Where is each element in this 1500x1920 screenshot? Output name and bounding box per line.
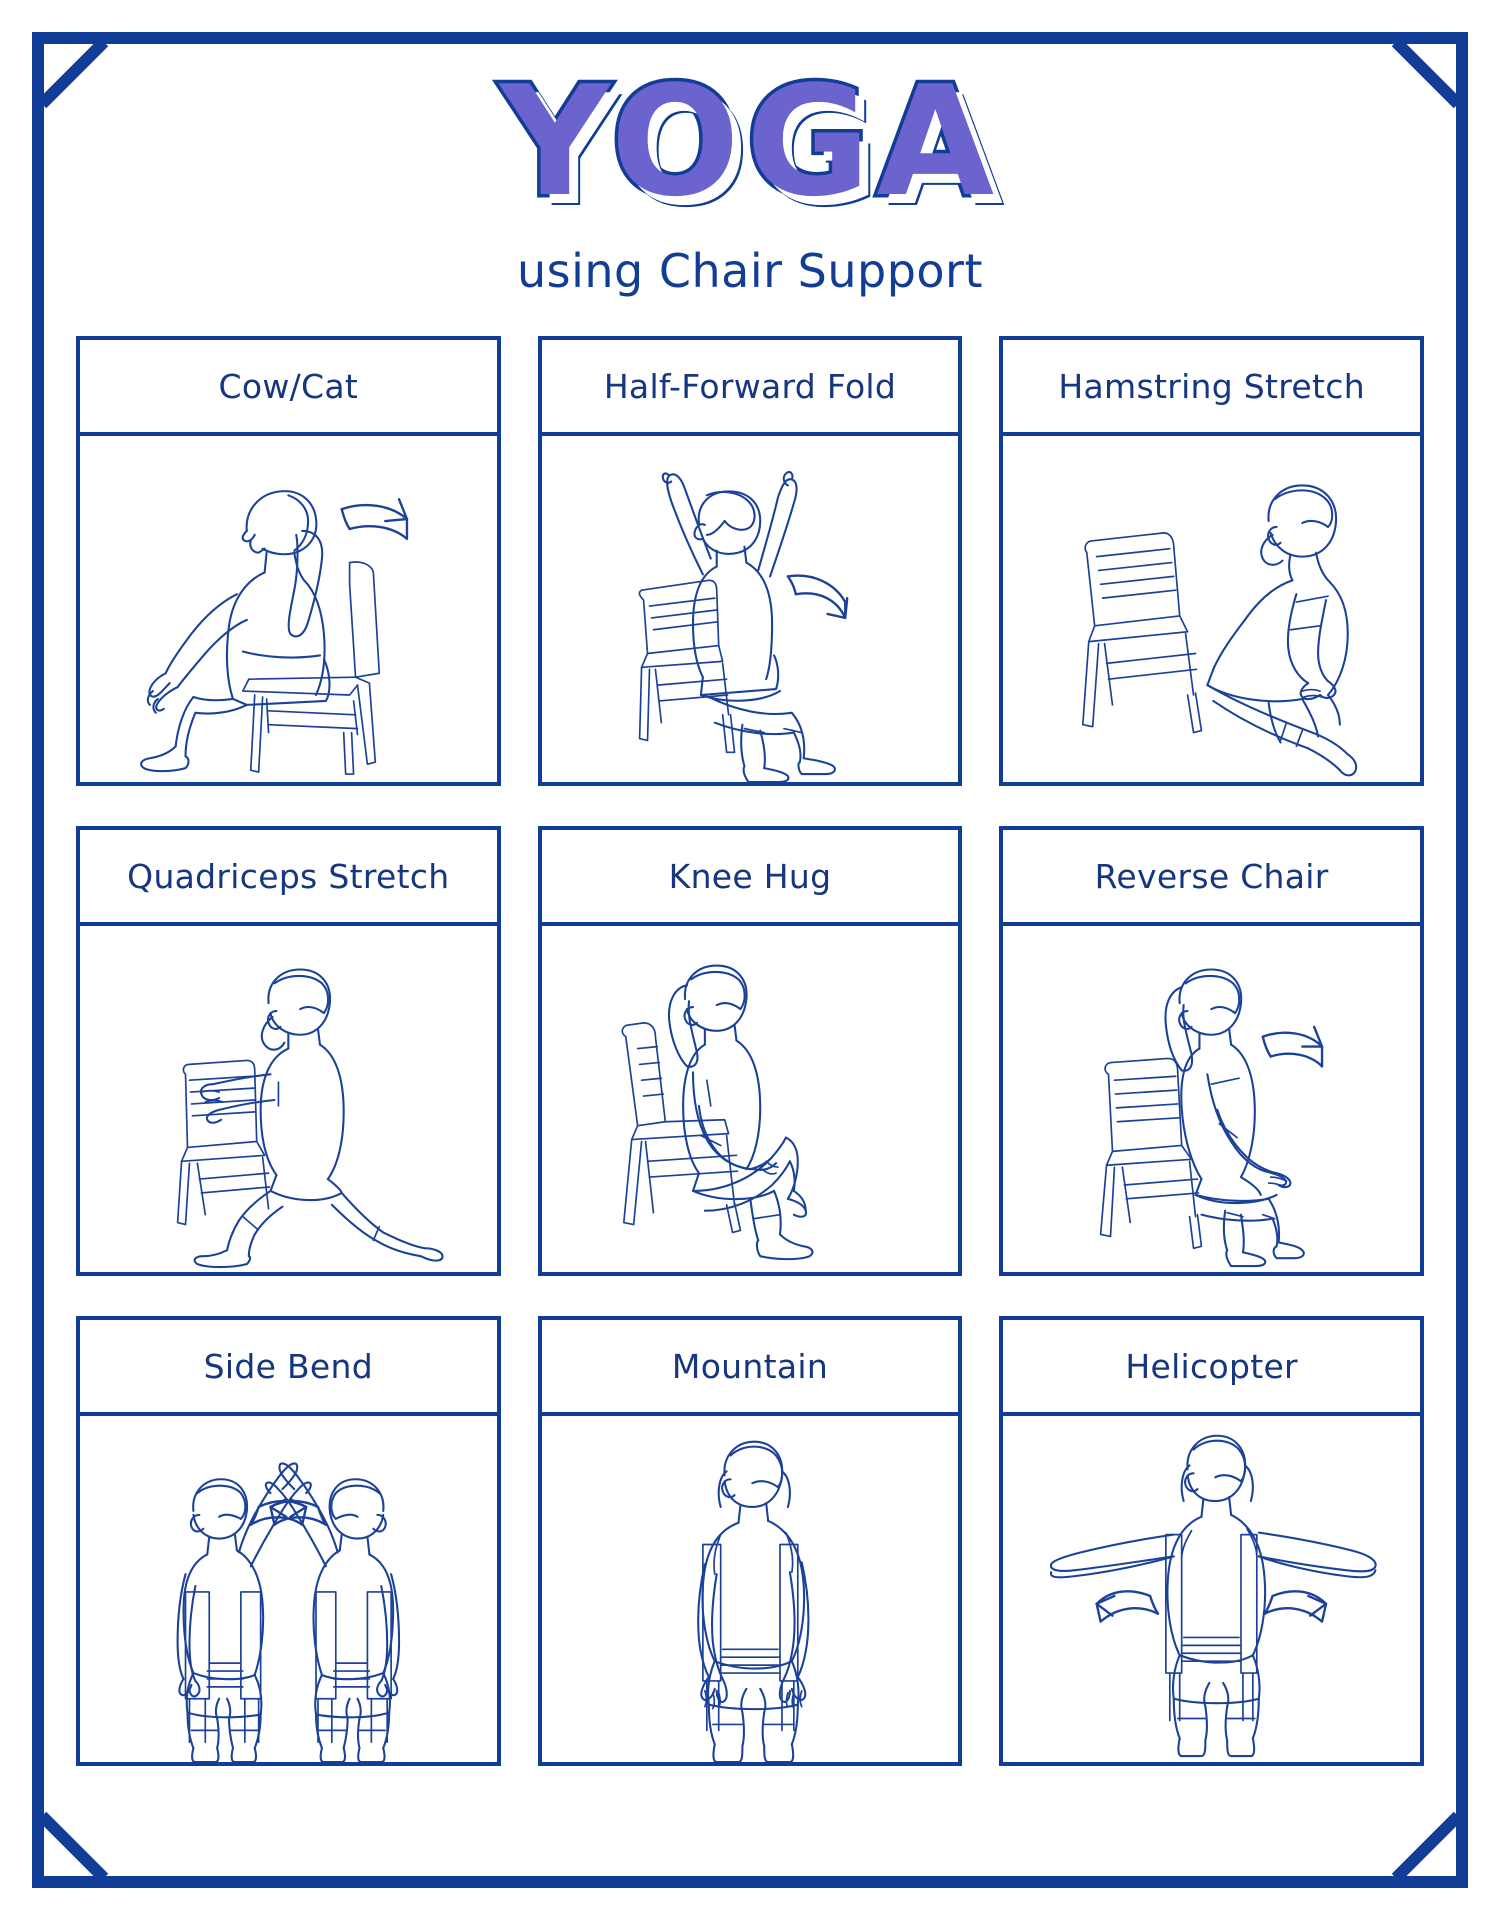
pose-card-header: Cow/Cat <box>80 340 497 436</box>
pose-card-header: Mountain <box>542 1320 959 1416</box>
pose-card-mountain[interactable]: Mountain <box>538 1316 963 1766</box>
pose-title: Side Bend <box>204 1347 373 1386</box>
pose-title: Knee Hug <box>669 857 832 896</box>
pose-card-header: Quadriceps Stretch <box>80 830 497 926</box>
poster-page: YOGA using Chair Support Cow/Cat <box>0 0 1500 1920</box>
hamstring-stretch-figure-icon <box>1003 436 1420 782</box>
pose-title: Half-Forward Fold <box>604 367 896 406</box>
pose-illustration-quadriceps-stretch <box>80 926 497 1272</box>
pose-card-quadriceps-stretch[interactable]: Quadriceps Stretch <box>76 826 501 1276</box>
pose-grid: Cow/Cat <box>76 336 1424 1766</box>
pose-card-header: Half-Forward Fold <box>542 340 959 436</box>
pose-illustration-reverse-chair <box>1003 926 1420 1272</box>
pose-illustration-half-forward-fold <box>542 436 959 782</box>
pose-illustration-hamstring-stretch <box>1003 436 1420 782</box>
pose-card-header: Helicopter <box>1003 1320 1420 1416</box>
pose-title: Hamstring Stretch <box>1058 367 1365 406</box>
pose-card-reverse-chair[interactable]: Reverse Chair <box>999 826 1424 1276</box>
pose-illustration-side-bend <box>80 1416 497 1762</box>
reverse-chair-figure-icon <box>1003 926 1420 1272</box>
quadriceps-stretch-figure-icon <box>80 926 497 1272</box>
page-title: YOGA <box>500 66 1000 218</box>
knee-hug-figure-icon <box>542 926 959 1272</box>
page-subtitle: using Chair Support <box>0 244 1500 298</box>
mountain-figure-icon <box>542 1416 959 1762</box>
pose-illustration-mountain <box>542 1416 959 1762</box>
pose-title: Helicopter <box>1125 1347 1298 1386</box>
pose-card-knee-hug[interactable]: Knee Hug <box>538 826 963 1276</box>
pose-illustration-helicopter <box>1003 1416 1420 1762</box>
pose-card-half-forward-fold[interactable]: Half-Forward Fold <box>538 336 963 786</box>
pose-illustration-knee-hug <box>542 926 959 1272</box>
helicopter-figure-icon <box>1003 1416 1420 1762</box>
pose-card-helicopter[interactable]: Helicopter <box>999 1316 1424 1766</box>
pose-card-header: Hamstring Stretch <box>1003 340 1420 436</box>
title-block: YOGA using Chair Support <box>0 0 1500 298</box>
pose-title: Quadriceps Stretch <box>127 857 449 896</box>
pose-card-header: Reverse Chair <box>1003 830 1420 926</box>
pose-card-cow-cat[interactable]: Cow/Cat <box>76 336 501 786</box>
half-forward-fold-figure-icon <box>542 436 959 782</box>
pose-card-header: Side Bend <box>80 1320 497 1416</box>
pose-card-header: Knee Hug <box>542 830 959 926</box>
pose-title: Reverse Chair <box>1095 857 1329 896</box>
cow-cat-figure-icon <box>80 436 497 782</box>
pose-card-side-bend[interactable]: Side Bend <box>76 1316 501 1766</box>
side-bend-two-figures-icon <box>80 1416 497 1762</box>
pose-title: Mountain <box>672 1347 828 1386</box>
pose-illustration-cow-cat <box>80 436 497 782</box>
pose-title: Cow/Cat <box>219 367 359 406</box>
pose-card-hamstring-stretch[interactable]: Hamstring Stretch <box>999 336 1424 786</box>
